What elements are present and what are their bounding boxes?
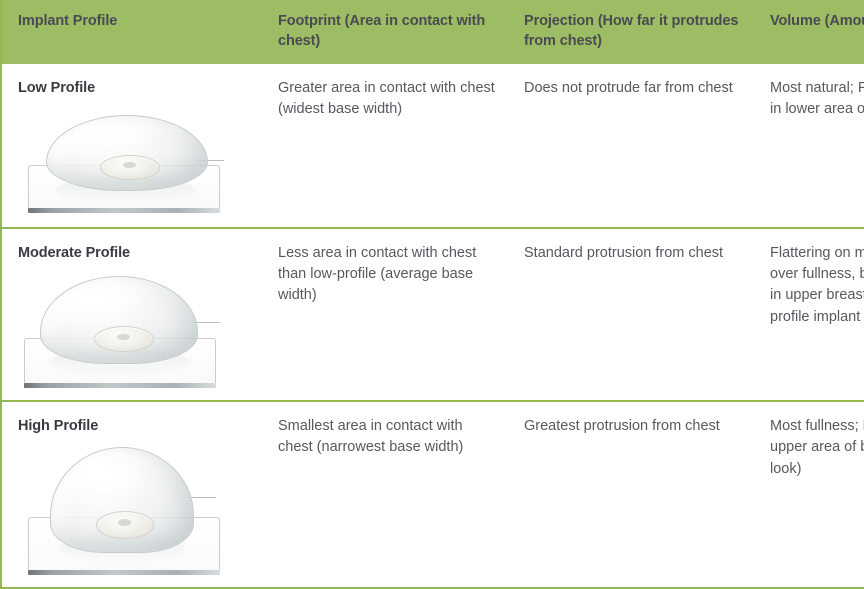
- low-profile-implant-photo: [20, 107, 225, 217]
- row-title-high: High Profile: [18, 416, 250, 437]
- implant-rim-line: [188, 497, 216, 498]
- table-row: Moderate Profile: [1, 228, 864, 401]
- cell-profile-low: Low Profile: [1, 64, 264, 228]
- cell-profile-high: High Profile: [1, 401, 264, 588]
- cell-volume-high: Most fullness; More fullness in upper ar…: [756, 401, 864, 588]
- cell-footprint-moderate: Less area in contact with chest than low…: [264, 228, 510, 401]
- column-header-volume: Volume (Amount of fullness): [756, 0, 864, 64]
- cell-footprint-high: Smallest area in contact with chest (nar…: [264, 401, 510, 588]
- projection-text-moderate: Standard protrusion from chest: [524, 243, 742, 264]
- cell-projection-low: Does not protrude far from chest: [510, 64, 756, 228]
- cell-volume-low: Most natural; Fullness mostly in lower a…: [756, 64, 864, 228]
- projection-text-high: Greatest protrusion from chest: [524, 416, 742, 437]
- moderate-profile-implant-photo: [20, 272, 225, 390]
- table-header-row: Implant Profile Footprint (Area in conta…: [1, 0, 864, 64]
- cell-volume-moderate: Flattering on most women; All over fulln…: [756, 228, 864, 401]
- row-title-low: Low Profile: [18, 78, 250, 99]
- table-body: Low Profile: [1, 64, 864, 588]
- row-title-moderate: Moderate Profile: [18, 243, 250, 264]
- cell-footprint-low: Greater area in contact with chest (wide…: [264, 64, 510, 228]
- cell-projection-moderate: Standard protrusion from chest: [510, 228, 756, 401]
- volume-text-moderate: Flattering on most women; All over fulln…: [770, 243, 864, 328]
- volume-text-low: Most natural; Fullness mostly in lower a…: [770, 78, 864, 120]
- column-header-footprint: Footprint (Area in contact with chest): [264, 0, 510, 64]
- table-header: Implant Profile Footprint (Area in conta…: [1, 0, 864, 64]
- implant-profile-table: Implant Profile Footprint (Area in conta…: [0, 0, 864, 589]
- implant-fill-port: [100, 155, 160, 180]
- footprint-text-high: Smallest area in contact with chest (nar…: [278, 416, 496, 458]
- column-header-implant-profile: Implant Profile: [1, 0, 264, 64]
- high-profile-implant-photo: [20, 445, 225, 577]
- volume-text-high: Most fullness; More fullness in upper ar…: [770, 416, 864, 479]
- projection-text-low: Does not protrude far from chest: [524, 78, 742, 99]
- column-header-projection: Projection (How far it protrudes from ch…: [510, 0, 756, 64]
- cell-projection-high: Greatest protrusion from chest: [510, 401, 756, 588]
- footprint-text-low: Greater area in contact with chest (wide…: [278, 78, 496, 120]
- footprint-text-moderate: Less area in contact with chest than low…: [278, 243, 496, 306]
- table-row: Low Profile: [1, 64, 864, 228]
- cell-profile-moderate: Moderate Profile: [1, 228, 264, 401]
- table-row: High Profile: [1, 401, 864, 588]
- implant-profile-comparison: Implant Profile Footprint (Area in conta…: [0, 0, 864, 567]
